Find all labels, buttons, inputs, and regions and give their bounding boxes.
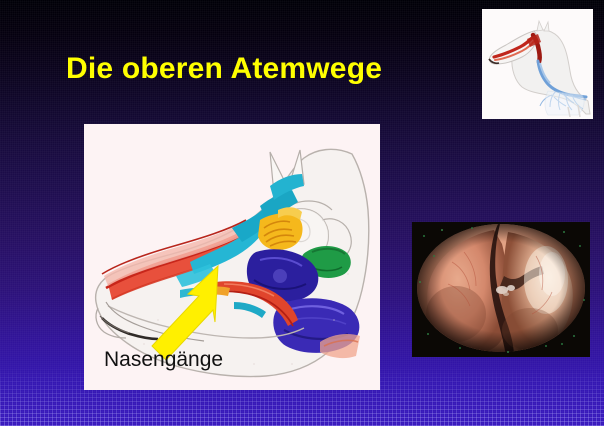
figure-caption-nasengaenge: Nasengänge [104, 348, 223, 372]
nasal-endoscopy-image [412, 222, 590, 357]
main-figure-panel: Nasengänge [84, 124, 380, 390]
slide-title: Die oberen Atemwege [66, 52, 382, 86]
corner-figure-panel [482, 9, 593, 119]
horse-respiratory-tract-overview-icon [482, 9, 593, 119]
presentation-slide: Die oberen Atemwege [0, 0, 604, 426]
endoscope-photo-panel [412, 222, 590, 357]
